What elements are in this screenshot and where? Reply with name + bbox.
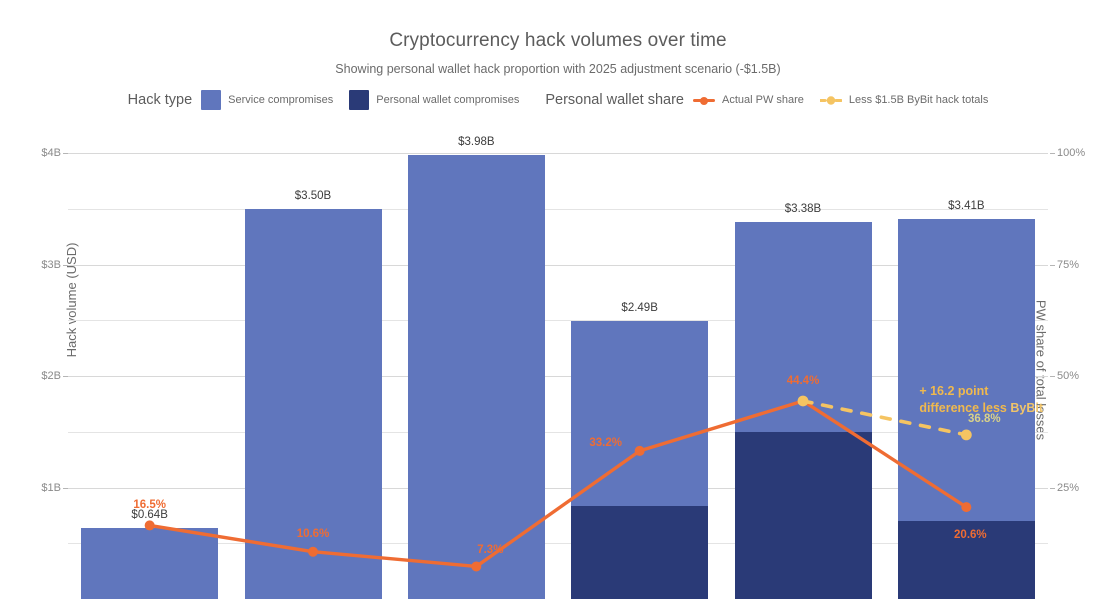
y-axis-right-tick: 50% bbox=[1057, 370, 1079, 382]
legend-swatch-personal-wallet-compromises bbox=[349, 90, 369, 110]
line-point-label-actual-pw-share: 10.6% bbox=[297, 528, 330, 540]
line-overlay bbox=[68, 140, 1048, 555]
annotation-bybit-difference: + 16.2 pointdifference less ByBit bbox=[919, 383, 1043, 417]
legend-label-actual-pw-share: Actual PW share bbox=[722, 94, 804, 106]
y-axis-left-tick: $3B bbox=[41, 259, 61, 271]
legend-item-service-compromises[interactable]: Service compromises bbox=[201, 90, 333, 110]
plot-area: $1B$2B$3B$4B25%50%75%100%$0.64B$3.50B$3.… bbox=[68, 140, 1048, 555]
y-axis-right-tick: 25% bbox=[1057, 482, 1079, 494]
line-point-label-actual-pw-share: 44.4% bbox=[787, 375, 820, 387]
annotation-line-1: + 16.2 point bbox=[919, 383, 1043, 400]
legend-swatch-service-compromises bbox=[201, 90, 221, 110]
y-axis-left-tick: $2B bbox=[41, 370, 61, 382]
annotation-line-2-emphasis: ByBit bbox=[1010, 401, 1043, 415]
y-axis-left-tick: $4B bbox=[41, 147, 61, 159]
annotation-line-2-text: difference less bbox=[919, 401, 1010, 415]
chart-legend: Hack type Service compromises Personal w… bbox=[0, 90, 1116, 110]
data-point-actual-pw-share[interactable] bbox=[961, 502, 971, 512]
line-point-label-actual-pw-share: 16.5% bbox=[133, 499, 166, 511]
data-point-actual-pw-share[interactable] bbox=[145, 520, 155, 530]
legend-label-less-bybit-totals: Less $1.5B ByBit hack totals bbox=[849, 94, 988, 106]
line-actual-pw-share bbox=[150, 401, 967, 566]
legend-label-service-compromises: Service compromises bbox=[228, 94, 333, 106]
data-point-less-bybit-totals[interactable] bbox=[798, 396, 809, 407]
y-axis-right-tick: 75% bbox=[1057, 259, 1079, 271]
legend-group-title-hack-type: Hack type bbox=[128, 92, 192, 108]
chart-container: Cryptocurrency hack volumes over time Sh… bbox=[0, 0, 1116, 555]
chart-subtitle: Showing personal wallet hack proportion … bbox=[0, 62, 1116, 76]
legend-label-personal-wallet-compromises: Personal wallet compromises bbox=[376, 94, 519, 106]
data-point-actual-pw-share[interactable] bbox=[308, 547, 318, 557]
legend-item-personal-wallet-compromises[interactable]: Personal wallet compromises bbox=[349, 90, 519, 110]
annotation-line-2: difference less ByBit bbox=[919, 400, 1043, 417]
line-marker-icon-actual-pw-share bbox=[693, 94, 715, 106]
y-axis-left-tick: $1B bbox=[41, 482, 61, 494]
legend-item-less-bybit-totals[interactable]: Less $1.5B ByBit hack totals bbox=[820, 94, 988, 106]
line-marker-icon-less-bybit-totals bbox=[820, 94, 842, 106]
data-point-less-bybit-totals[interactable] bbox=[961, 429, 972, 440]
data-point-actual-pw-share[interactable] bbox=[635, 446, 645, 456]
data-point-actual-pw-share[interactable] bbox=[471, 561, 481, 571]
legend-item-actual-pw-share[interactable]: Actual PW share bbox=[693, 94, 804, 106]
legend-group-title-personal-wallet-share: Personal wallet share bbox=[545, 92, 684, 108]
line-point-label-actual-pw-share: 20.6% bbox=[954, 529, 987, 541]
y-axis-right-tick: 100% bbox=[1057, 147, 1085, 159]
chart-title: Cryptocurrency hack volumes over time bbox=[0, 30, 1116, 52]
line-point-label-actual-pw-share: 33.2% bbox=[589, 437, 622, 449]
